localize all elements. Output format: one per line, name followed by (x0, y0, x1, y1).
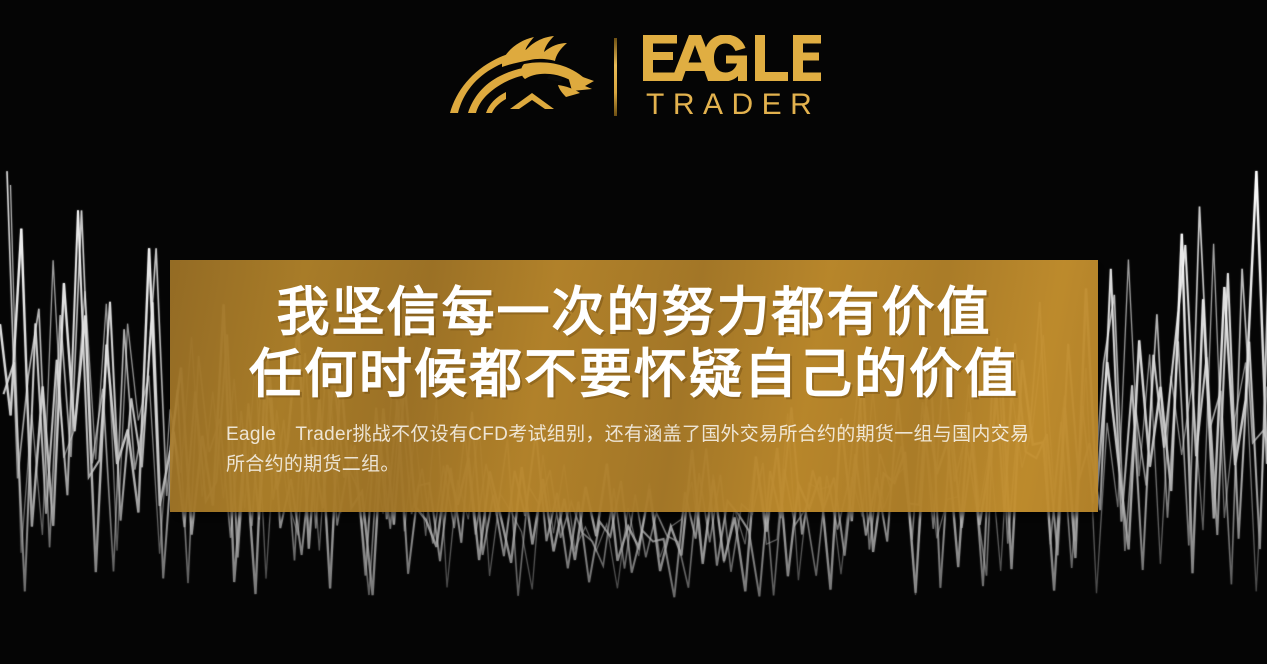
banner-body-text: Eagle Trader挑战不仅设有CFD考试组别，还有涵盖了国外交易所合约的期… (226, 420, 1042, 480)
wordmark-eagle (643, 35, 821, 81)
headline-line-2: 任何时候都不要怀疑自己的价值 (170, 344, 1098, 406)
brand-logo: TRADER (0, 24, 1267, 130)
wordmark: TRADER (643, 35, 821, 120)
headline-line-1: 我坚信每一次的努力都有价值 (170, 282, 1098, 344)
vertical-divider-icon (614, 38, 617, 116)
wordmark-trader: TRADER (646, 90, 820, 120)
promo-banner: 我坚信每一次的努力都有价值 任何时候都不要怀疑自己的价值 Eagle Trade… (170, 260, 1098, 512)
poster-canvas: TRADER 我坚信每一次的努力都有价值 任何时候都不要怀疑自己的价值 Eagl… (0, 0, 1267, 664)
eagle-head-icon (446, 31, 596, 123)
